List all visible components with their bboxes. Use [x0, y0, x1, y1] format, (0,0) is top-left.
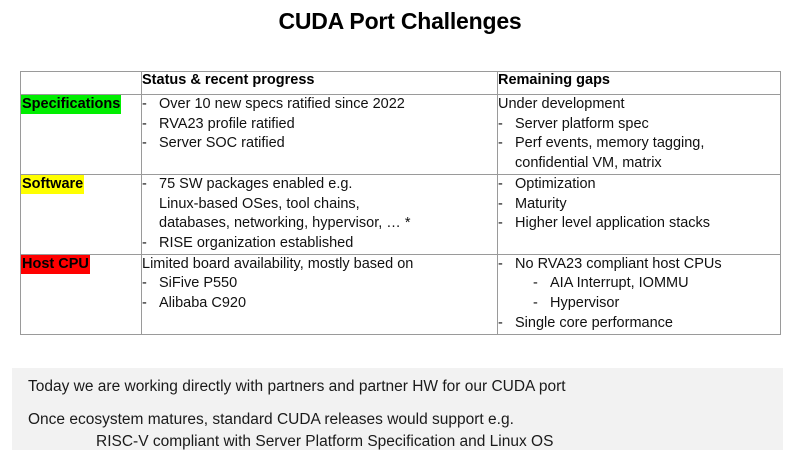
table-row: Software 75 SW packages enabled e.g. Lin… — [21, 174, 781, 254]
sub-list-item-text: AIA Interrupt, IOMMU — [550, 275, 689, 291]
column-header-gaps: Remaining gaps — [498, 72, 781, 95]
page-title: CUDA Port Challenges — [0, 8, 800, 35]
table-row: Specifications Over 10 new specs ratifie… — [21, 95, 781, 175]
list-item: Maturity — [498, 195, 780, 215]
list-item: Over 10 new specs ratified since 2022 — [142, 95, 497, 115]
status-cell-specifications: Over 10 new specs ratified since 2022 RV… — [142, 95, 498, 175]
list-item-continuation: databases, networking, hypervisor, … * — [159, 214, 497, 234]
list-item: Alibaba C920 — [142, 294, 497, 314]
sub-list-item: AIA Interrupt, IOMMU — [533, 274, 780, 294]
status-cell-software: 75 SW packages enabled e.g. Linux-based … — [142, 174, 498, 254]
list-item-text: Over 10 new specs ratified since 2022 — [159, 96, 405, 112]
list-item-text: SiFive P550 — [159, 275, 237, 291]
column-header-category — [21, 72, 142, 95]
row-label-cell-specifications: Specifications — [21, 95, 142, 175]
list-item: Single core performance — [498, 314, 780, 334]
table-header-row: Status & recent progress Remaining gaps — [21, 72, 781, 95]
sub-list-item-text: Hypervisor — [550, 295, 619, 311]
cuda-port-challenges-table: Status & recent progress Remaining gaps … — [20, 71, 781, 335]
note-line-3: RISC-V compliant with Server Platform Sp… — [28, 431, 783, 453]
row-label-cell-host-cpu: Host CPU — [21, 254, 142, 334]
slide-root: CUDA Port Challenges Status & recent pro… — [0, 0, 800, 460]
table-row: Host CPU Limited board availability, mos… — [21, 254, 781, 334]
list-item-text: Maturity — [515, 196, 567, 212]
note-spacer — [28, 398, 783, 409]
list-item: RISE organization established — [142, 234, 497, 254]
sub-list-item: Hypervisor — [533, 294, 780, 314]
list-item: 75 SW packages enabled e.g. Linux-based … — [142, 175, 497, 234]
list-item: RVA23 profile ratified — [142, 115, 497, 135]
list-item-text: Perf events, memory tagging, — [515, 135, 704, 151]
gaps-cell-specifications: Under development Server platform spec P… — [498, 95, 781, 175]
list-item-text: RVA23 profile ratified — [159, 116, 295, 132]
cell-intro-text: Limited board availability, mostly based… — [142, 255, 497, 275]
status-badge: Software — [21, 175, 84, 194]
list-item: SiFive P550 — [142, 274, 497, 294]
list-item-text: Server platform spec — [515, 116, 649, 132]
summary-note-box: Today we are working directly with partn… — [12, 368, 783, 450]
list-item-continuation: Linux-based OSes, tool chains, — [159, 195, 497, 215]
list-item-text: Optimization — [515, 176, 596, 192]
row-label-cell-software: Software — [21, 174, 142, 254]
list-item-text: Single core performance — [515, 315, 673, 331]
list-item: Perf events, memory tagging, confidentia… — [498, 134, 780, 173]
list-item: No RVA23 compliant host CPUs AIA Interru… — [498, 255, 780, 314]
list-item-text: 75 SW packages enabled e.g. — [159, 176, 352, 192]
list-item: Server SOC ratified — [142, 134, 497, 154]
gaps-cell-software: Optimization Maturity Higher level appli… — [498, 174, 781, 254]
list-item-text: Higher level application stacks — [515, 215, 710, 231]
note-line-2: Once ecosystem matures, standard CUDA re… — [28, 409, 783, 431]
note-line-1: Today we are working directly with partn… — [28, 376, 783, 398]
cell-intro-text: Under development — [498, 95, 780, 115]
list-item-text: Alibaba C920 — [159, 295, 246, 311]
list-item-text: No RVA23 compliant host CPUs — [515, 256, 722, 272]
column-header-status: Status & recent progress — [142, 72, 498, 95]
gaps-cell-host-cpu: No RVA23 compliant host CPUs AIA Interru… — [498, 254, 781, 334]
list-item-text: Server SOC ratified — [159, 135, 285, 151]
list-item: Higher level application stacks — [498, 214, 780, 234]
list-item: Server platform spec — [498, 115, 780, 135]
status-cell-host-cpu: Limited board availability, mostly based… — [142, 254, 498, 334]
list-item-continuation: confidential VM, matrix — [515, 154, 780, 174]
status-badge: Specifications — [21, 95, 121, 114]
status-badge: Host CPU — [21, 255, 90, 274]
list-item: Optimization — [498, 175, 780, 195]
list-item-text: RISE organization established — [159, 235, 353, 251]
